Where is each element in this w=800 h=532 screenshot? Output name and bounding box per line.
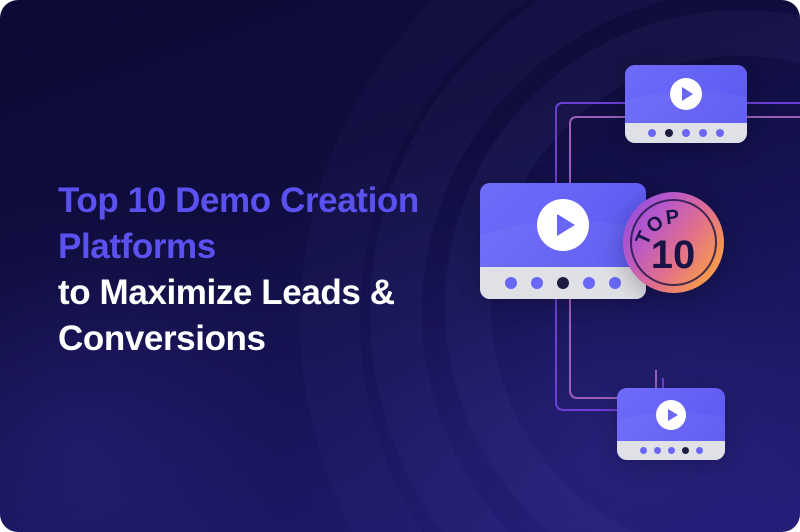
main-video-screen — [480, 183, 646, 267]
bottom-video-screen — [617, 388, 725, 441]
play-icon[interactable] — [656, 400, 686, 430]
play-triangle-icon — [682, 87, 693, 101]
main-video-player[interactable] — [480, 183, 646, 299]
play-triangle-icon — [557, 214, 575, 236]
badge-number-text: 10 — [651, 233, 696, 277]
headline-line-3: to Maximize Leads & — [58, 270, 458, 316]
top-video-screen — [625, 65, 747, 123]
play-triangle-icon — [668, 409, 678, 421]
bottom-video-player[interactable] — [617, 388, 725, 460]
top-video-player[interactable] — [625, 65, 747, 143]
headline-line-4: Conversions — [58, 316, 458, 362]
headline: Top 10 Demo Creation Platforms to Maximi… — [58, 178, 458, 362]
top-10-badge: TOP 10 — [623, 192, 724, 293]
promo-banner: Top 10 Demo Creation Platforms to Maximi… — [0, 0, 800, 532]
headline-line-2: Platforms — [58, 224, 458, 270]
play-icon[interactable] — [537, 199, 589, 251]
connector-path-bottom-inner — [570, 298, 656, 398]
badge-text-group: TOP 10 — [623, 192, 724, 293]
headline-line-1: Top 10 Demo Creation — [58, 178, 458, 224]
play-icon[interactable] — [670, 78, 702, 110]
